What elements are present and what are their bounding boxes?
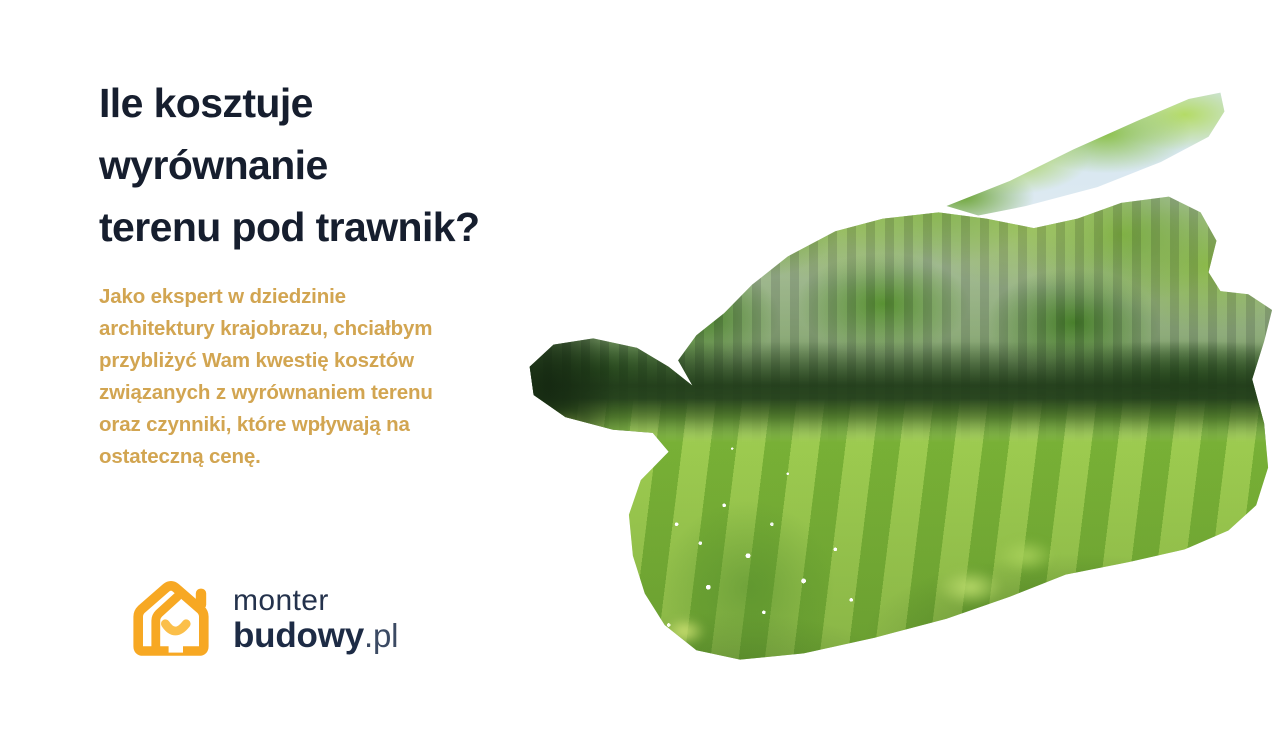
brand-name-budowy-text: budowy [233,616,364,655]
intro-paragraph: Jako ekspert w dziedzinie architektury k… [99,281,459,473]
brand-wordmark: monter budowy.pl [233,586,398,653]
brand-tld: .pl [364,617,398,654]
headline-block: Ile kosztuje wyrównanie terenu pod trawn… [99,72,529,258]
brand-logo[interactable]: monter budowy.pl [127,576,477,662]
hero-photo [486,58,1280,688]
page-title: Ile kosztuje wyrównanie terenu pod trawn… [99,72,529,258]
poster-canvas: Ile kosztuje wyrównanie terenu pod trawn… [0,0,1280,732]
house-logo-icon [127,579,223,659]
brand-name-budowy: budowy.pl [233,618,398,653]
brand-name-monter: monter [233,586,398,616]
